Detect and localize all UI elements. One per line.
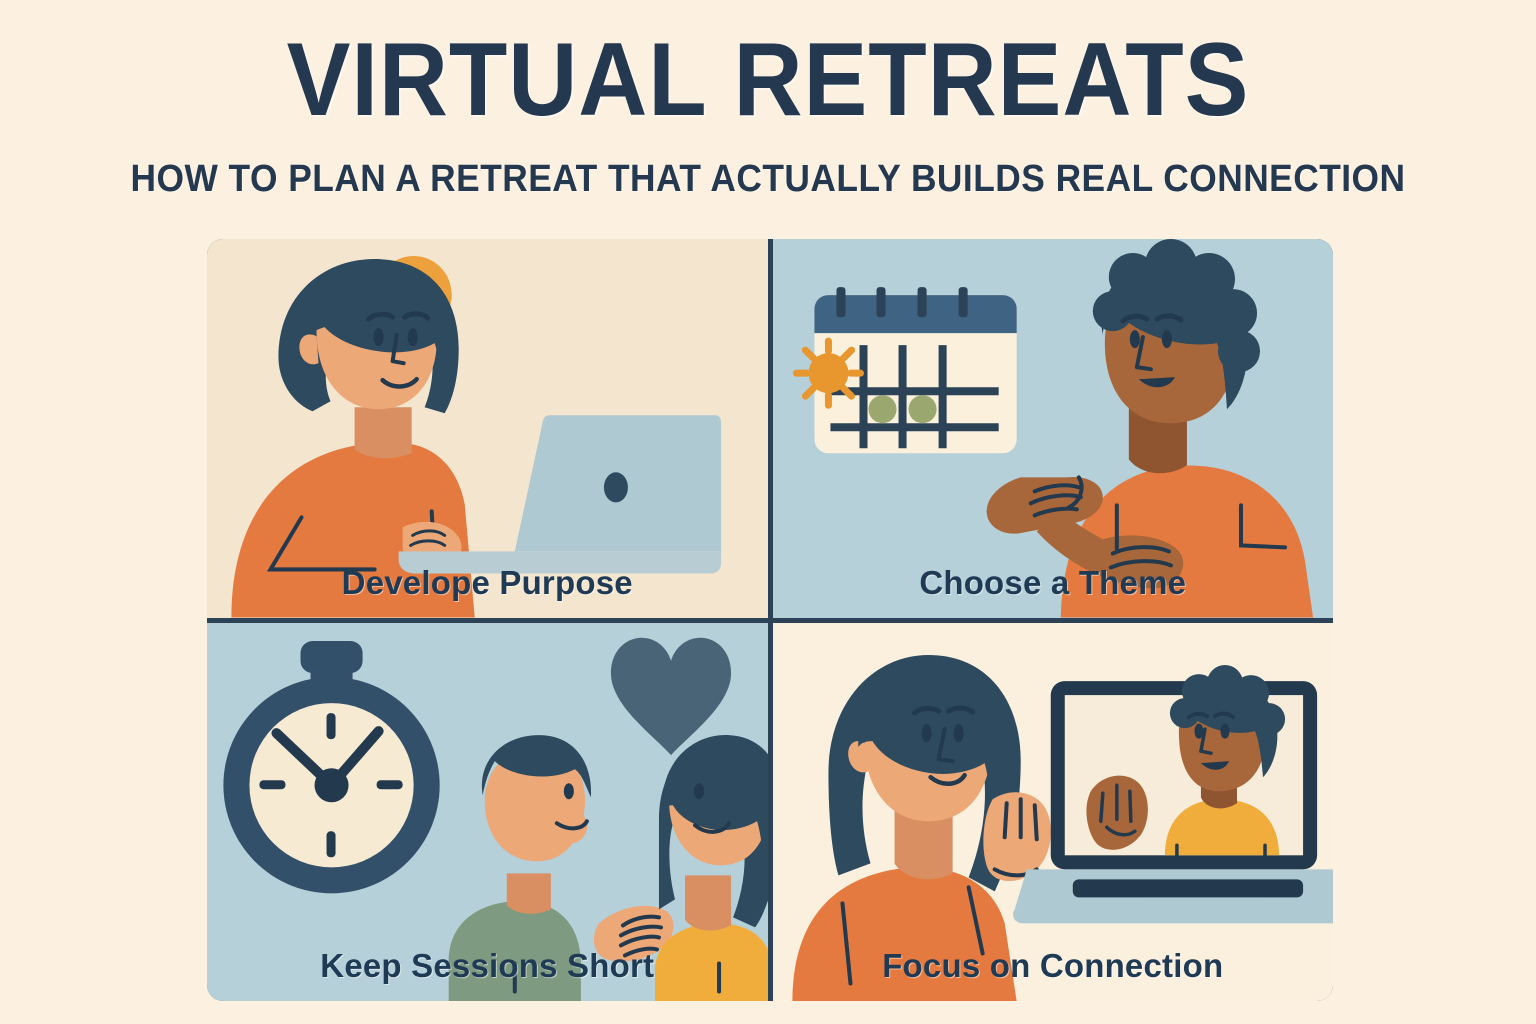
tick-12 [327, 713, 336, 739]
eye-right [953, 724, 963, 742]
eye-woman [694, 783, 704, 799]
calendar-dot-1 [868, 395, 896, 423]
calendar-dot-2 [908, 395, 936, 423]
panel-keep-sessions-short[interactable]: Keep Sessions Short [207, 623, 768, 1002]
eye-right [1161, 330, 1171, 348]
calendar-icon [796, 287, 1016, 453]
two-people-talking-illustration [207, 623, 768, 1002]
panel-focus-on-connection[interactable]: Focus on Connection [773, 623, 1334, 1002]
eye-left [374, 328, 384, 346]
tick-9 [259, 780, 285, 789]
panel-label-develope-purpose: Develope Purpose [207, 564, 768, 602]
eye-left [1129, 330, 1139, 348]
woman-at-laptop-illustration [207, 239, 768, 618]
eye-left [921, 724, 931, 742]
tick-6 [327, 831, 336, 857]
eye-right [408, 328, 418, 346]
page-subtitle: HOW TO PLAN A RETREAT THAT ACTUALLY BUIL… [54, 160, 1482, 198]
panel-label-choose-a-theme: Choose a Theme [773, 564, 1334, 602]
page-title: VIRTUAL RETREATS [61, 28, 1474, 132]
panel-label-keep-sessions-short: Keep Sessions Short [207, 947, 768, 985]
clock-center [315, 768, 349, 802]
man-presenting-illustration [773, 239, 1334, 618]
header: VIRTUAL RETREATS HOW TO PLAN A RETREAT T… [0, 0, 1536, 230]
laptop-logo [604, 472, 628, 502]
laptop-video-call-icon [1013, 665, 1333, 923]
panel-develope-purpose[interactable]: Develope Purpose [207, 239, 768, 618]
laptop-trackpad [1072, 879, 1302, 897]
stopwatch-icon [223, 641, 439, 893]
tick-3 [377, 780, 403, 789]
infographic-grid: Develope Purpose [207, 239, 1333, 1001]
eye-man [564, 783, 574, 799]
sun-icon [796, 341, 860, 405]
panel-label-focus-on-connection: Focus on Connection [773, 947, 1334, 985]
woman-waving-illustration [773, 623, 1334, 1002]
panel-choose-a-theme[interactable]: Choose a Theme [773, 239, 1334, 618]
